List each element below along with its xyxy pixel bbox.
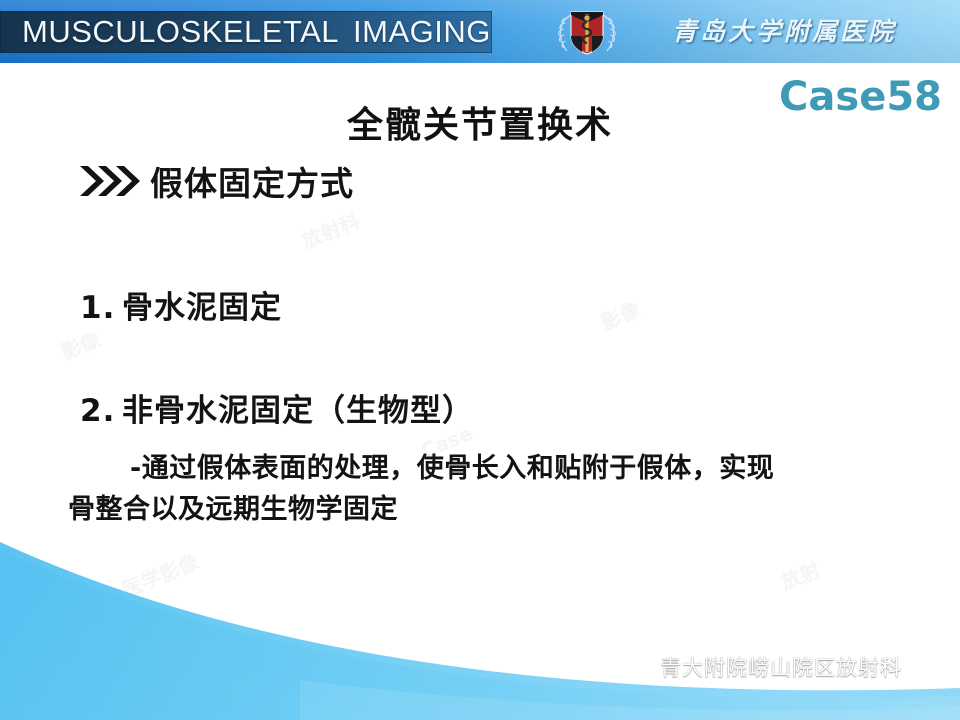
list-item: 2.非骨水泥固定（生物型）	[80, 385, 474, 430]
hospital-shield-emblem-icon	[551, 6, 623, 58]
brand-word-imaging: IMAGING	[353, 14, 491, 49]
page-title: 全髋关节置换术	[0, 96, 960, 148]
brand-title: MUSCULOSKELETALIMAGING	[22, 11, 491, 53]
list-item: 1.骨水泥固定	[80, 282, 282, 327]
body-paragraph-line: -通过假体表面的处理，使骨长入和贴附于假体，实现	[68, 448, 918, 489]
list-item-label: 骨水泥固定	[122, 290, 282, 326]
slide-header-band: MUSCULOSKELETALIMAGING	[0, 0, 960, 63]
body-paragraph: -通过假体表面的处理，使骨长入和贴附于假体，实现 骨整合以及远期生物学固定	[68, 448, 918, 530]
list-item-label: 非骨水泥固定（生物型）	[122, 393, 474, 429]
bottom-wave-decoration	[0, 520, 960, 720]
list-item-number: 2.	[80, 393, 122, 429]
triple-chevron-right-icon	[78, 164, 140, 198]
background-watermark: 影像	[56, 324, 104, 366]
section-subheading-label: 假体固定方式	[150, 157, 354, 205]
footer-credit: 青大附院崂山院区放射科	[620, 652, 902, 682]
footer-credit-label: 青大附院崂山院区放射科	[660, 652, 902, 682]
background-watermark: 放射科	[297, 205, 363, 254]
background-watermark: 影像	[596, 294, 644, 336]
list-item-number: 1.	[80, 290, 122, 326]
section-subheading: 假体固定方式	[78, 157, 354, 205]
wechat-icon	[620, 653, 652, 681]
hospital-name-label: 青岛大学附属医院	[672, 12, 896, 48]
presentation-slide: MUSCULOSKELETALIMAGING	[0, 0, 960, 720]
brand-word-musculoskeletal: MUSCULOSKELETAL	[22, 14, 339, 49]
